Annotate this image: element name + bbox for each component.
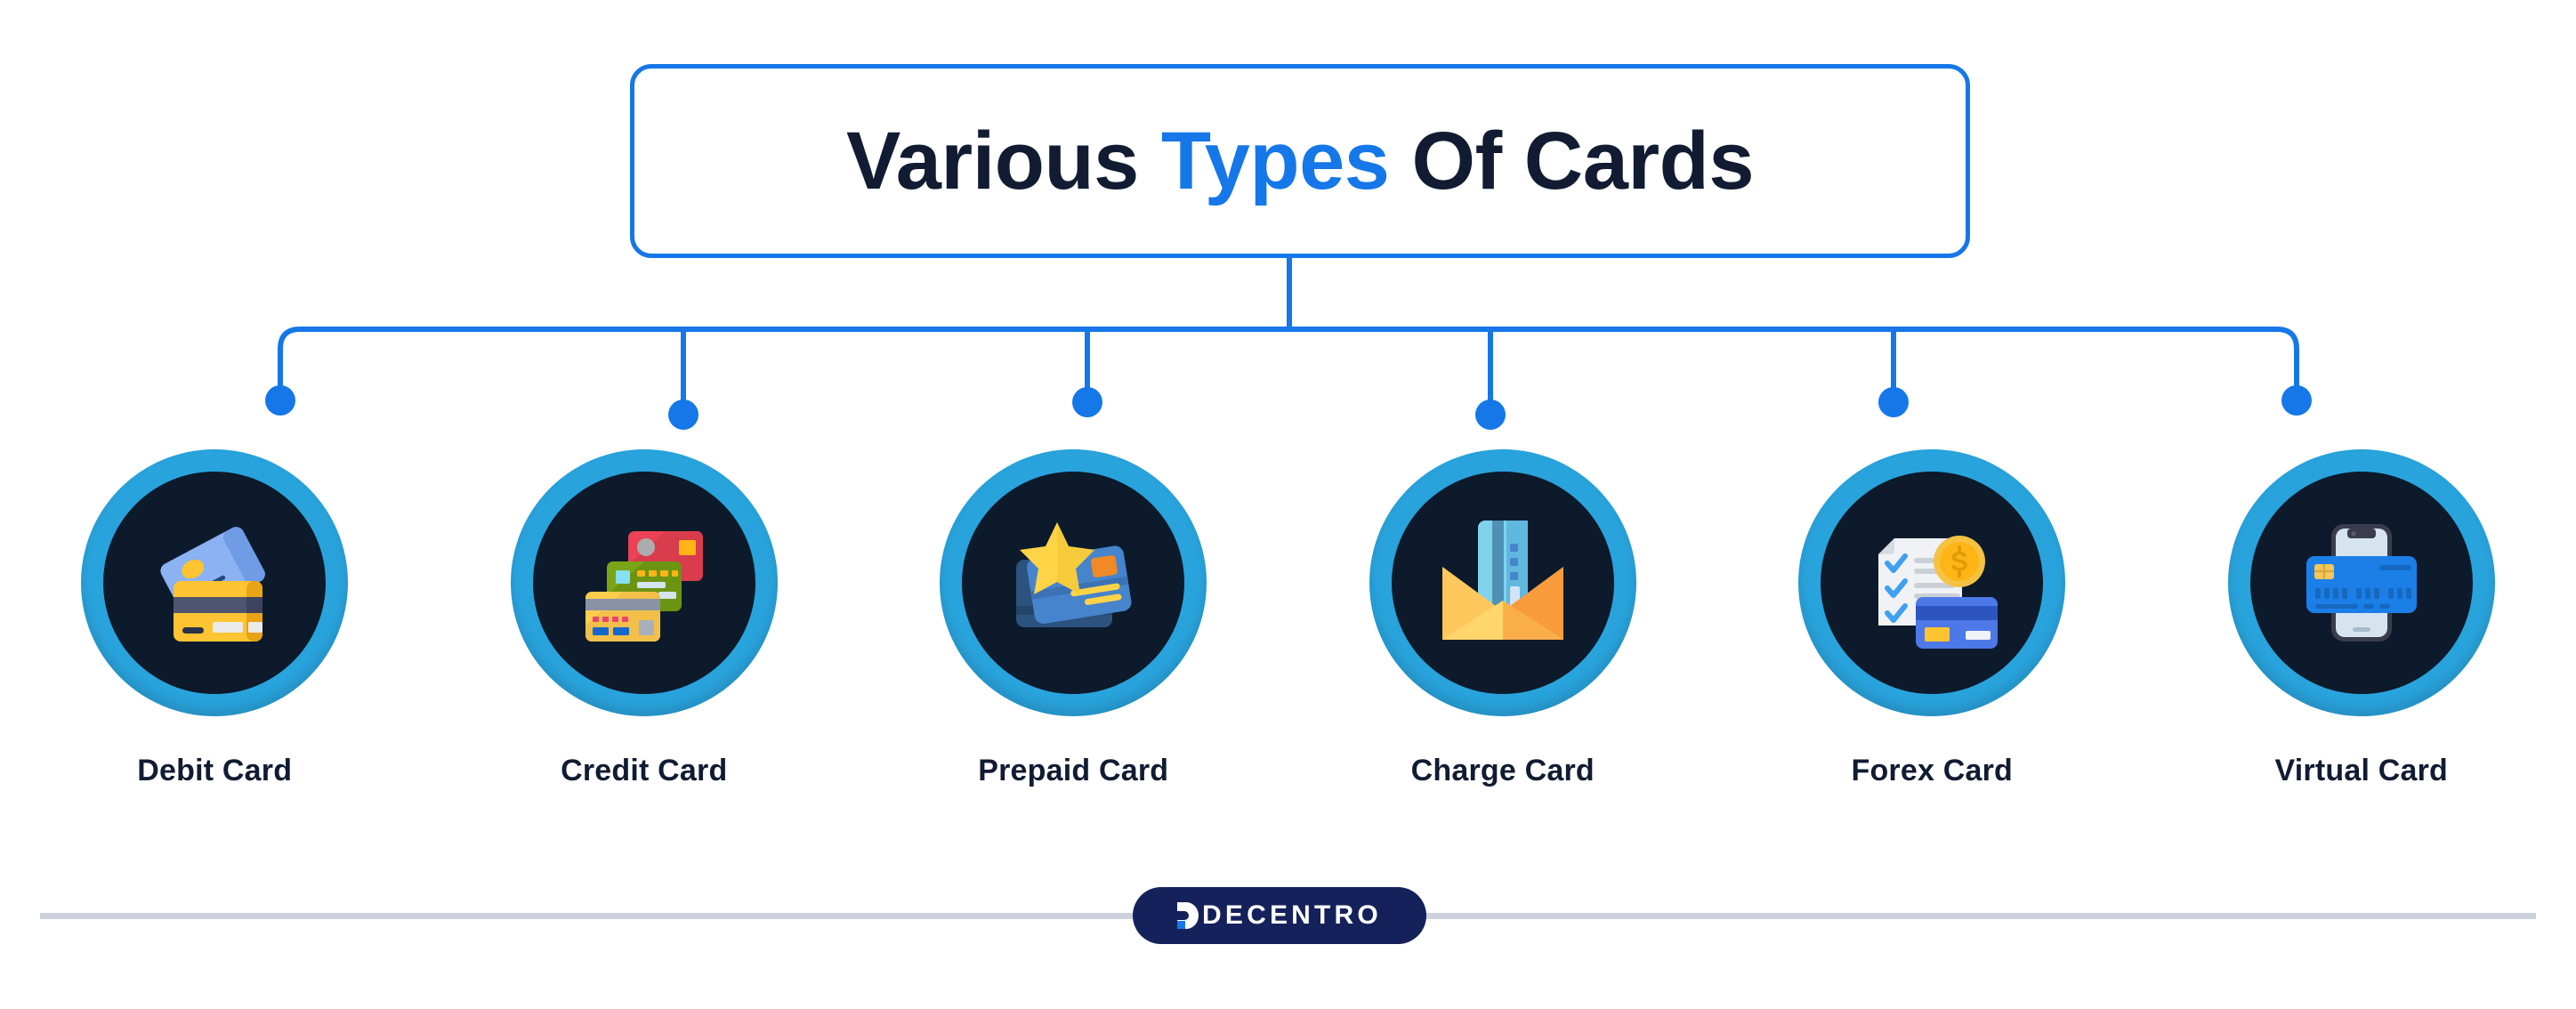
card-type-item[interactable]: Charge Card — [1288, 449, 1718, 788]
icon-ring — [940, 449, 1207, 716]
page-title: Various Types Of Cards — [846, 120, 1754, 202]
card-type-item[interactable]: Debit Card — [0, 449, 430, 788]
stacked-cards-icon — [573, 512, 715, 654]
connector-dot-5 — [1878, 387, 1909, 417]
card-type-label: Virtual Card — [2275, 754, 2449, 788]
card-type-label: Credit Card — [561, 754, 727, 788]
card-type-label: Debit Card — [137, 754, 292, 788]
phone-card-icon — [2290, 512, 2433, 654]
connector-dot-4 — [1475, 400, 1506, 430]
star-card-icon — [1002, 512, 1144, 654]
connector-dot-3 — [1072, 387, 1102, 417]
page-title-highlight: Types — [1161, 116, 1390, 206]
page-title-prefix: Various — [846, 116, 1161, 206]
connector-bus — [280, 329, 2297, 400]
icon-disc — [1392, 472, 1614, 694]
envelope-card-icon — [1432, 512, 1574, 654]
connector-dot-2 — [668, 400, 699, 430]
icon-ring — [2228, 449, 2495, 716]
icon-disc — [2250, 472, 2473, 694]
decentro-logo[interactable]: DECENTRO — [1133, 887, 1426, 944]
icon-ring — [511, 449, 778, 716]
card-type-item[interactable]: Prepaid Card — [859, 449, 1288, 788]
icon-disc: S — [1821, 472, 2043, 694]
two-cards-icon — [143, 512, 286, 654]
card-types-list: Debit Card — [0, 449, 2576, 788]
icon-ring — [81, 449, 348, 716]
card-type-item[interactable]: S Forex Card — [1717, 449, 2147, 788]
icon-ring: S — [1798, 449, 2065, 716]
connector-dot-6 — [2281, 385, 2312, 416]
card-type-item[interactable]: Credit Card — [430, 449, 860, 788]
icon-disc — [103, 472, 326, 694]
icon-ring — [1369, 449, 1636, 716]
icon-disc — [533, 472, 755, 694]
checklist-coin-card-icon: S — [1861, 512, 2003, 654]
decentro-wordmark: DECENTRO — [1202, 902, 1382, 929]
page-title-suffix: Of Cards — [1389, 116, 1754, 206]
connector-dot-1 — [265, 385, 295, 416]
page-title-box: Various Types Of Cards — [630, 64, 1970, 258]
icon-disc — [962, 472, 1184, 694]
card-type-label: Forex Card — [1852, 754, 2014, 788]
card-type-label: Prepaid Card — [978, 754, 1168, 788]
card-type-item[interactable]: Virtual Card — [2147, 449, 2576, 788]
card-type-label: Charge Card — [1411, 754, 1595, 788]
svg-text:S: S — [1950, 547, 1968, 577]
decentro-d-mark-icon — [1177, 902, 1199, 929]
